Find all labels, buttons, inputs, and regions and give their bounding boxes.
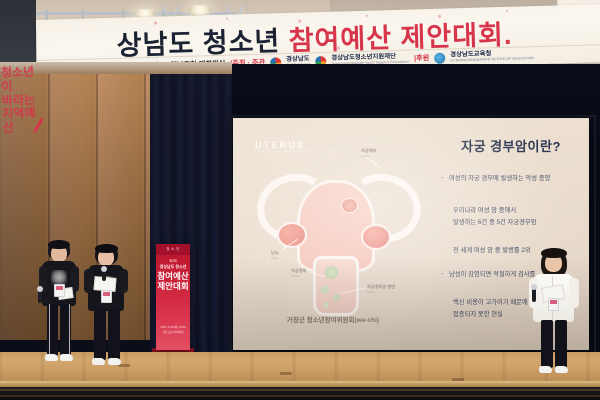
lesion-marker-1 (341, 198, 358, 213)
shoe-right (60, 354, 73, 361)
student-presenter-middle (82, 244, 130, 366)
leg-left (541, 320, 553, 368)
figure-label-ovary: 난소Ovary (271, 250, 279, 260)
slide-body-2b: 발생하는 6건 중 5건 자궁경부암 (453, 218, 589, 228)
microphone[interactable] (38, 290, 42, 303)
seating-rail-2 (0, 395, 600, 397)
student-presenter-left (36, 240, 82, 364)
wall-slogan-banner: 청소년이 바라는 지역예산 (1, 65, 48, 140)
rollup-top-strip: 청 소 년 (156, 244, 190, 255)
slide-bullet-dash-2: - (441, 270, 443, 277)
floor-vent-2 (280, 372, 292, 375)
rollup-title: 참여예산 제안대회 (156, 272, 190, 291)
ceiling-downlight-2 (188, 5, 212, 15)
figure-label: UTERUS FEMALE REPRODUCTIVE SYSTEM (255, 140, 336, 154)
slide-title: 자궁 경부암이란? (433, 136, 589, 155)
lesion-marker-5 (323, 302, 329, 308)
hair-fringe (541, 248, 567, 258)
ovary-left-icon (277, 222, 307, 248)
pants-stripe-right (69, 304, 70, 356)
name-badge (548, 298, 559, 311)
name-badge (54, 284, 65, 297)
rollup-footer: 2025. 6.26(목) 13:00 경남도청 대회의실 (156, 325, 190, 334)
lesion-marker-4 (333, 294, 340, 301)
rollup-round: 제3회 (156, 258, 190, 263)
shoe-left (45, 354, 58, 361)
arm-left (84, 269, 93, 293)
microphone[interactable] (102, 270, 106, 281)
wall-slogan-line1: 청소년이 (1, 65, 46, 94)
pants-stripe-left (49, 304, 50, 356)
rollup-banner: 청 소 년 제3회 경상남도 청소년 참여예산 제안대회 2025. 6.26(… (156, 244, 190, 350)
rollup-footer-date: 2025. 6.26(목) 13:00 (156, 325, 190, 329)
shoe-right (108, 358, 121, 365)
hair-fringe (48, 240, 70, 249)
slide-body-2: 우리나라 여성 암 중에서 (453, 206, 585, 216)
leg-right (555, 320, 567, 368)
seating-rail-1 (0, 389, 600, 391)
slide-bullet-1: 여성의 자궁 경부에 발생하는 악성 종양 (449, 174, 581, 184)
leg-left (94, 309, 106, 360)
lesion-marker-3 (321, 286, 329, 294)
name-badge (101, 290, 112, 303)
shoe-right (555, 366, 568, 373)
shoe-left (92, 358, 105, 365)
leg-right (108, 309, 120, 360)
rollup-org: 경상남도 청소년 (156, 264, 190, 270)
education-office-logo-icon (434, 52, 445, 63)
slide-bullet-dash-1: - (441, 174, 443, 181)
arm-right (119, 269, 128, 293)
slide-figure-uterus: UTERUS FEMALE REPRODUCTIVE SYSTEM 자궁체부Ut… (233, 118, 433, 350)
arm-right (569, 278, 579, 308)
figure-label-lesion: 자궁경부암 병변Lesion (367, 284, 395, 294)
student-presenter-right (528, 248, 580, 376)
banner-sponsor-org: 경상남도교육청GYEONGSANGNAMDO OFFICE OF EDUCATI… (450, 50, 534, 62)
shoe-left (539, 366, 552, 373)
figure-label-uterus: 자궁체부Uterus (361, 148, 376, 158)
banner-title-period: . (503, 20, 512, 50)
cervix-icon (313, 256, 359, 316)
rollup-footer-venue: 경남도청 대회의실 (156, 330, 190, 334)
figure-label-cervix: 자궁경부Cervix (291, 268, 306, 278)
banner-sponsor-label: |후원 (414, 53, 430, 63)
photo-scene: 나 여 주 상남도 청소년 참여예산 제안대회. |일시 2025. 6.26(… (0, 0, 600, 400)
microphone[interactable] (532, 288, 536, 302)
slide-figure-caption: 거창군 청소년참여위원회(we-chi) (233, 314, 433, 324)
ovary-right-icon (361, 224, 391, 250)
hair-fringe (95, 244, 118, 253)
lesion-marker-2 (325, 266, 338, 279)
rollup-title-line2: 제안대회 (156, 282, 190, 292)
